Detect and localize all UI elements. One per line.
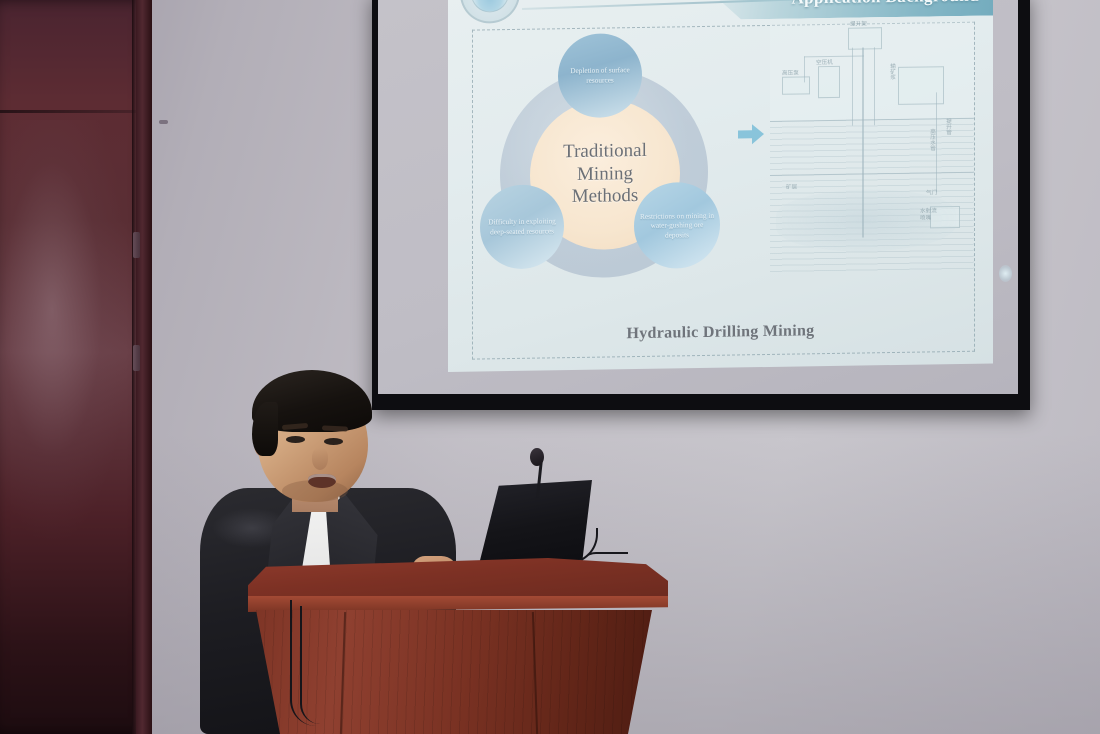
schematic-air-compressor [818, 66, 840, 98]
university-seal-logo [460, 0, 520, 24]
wooden-door[interactable] [0, 0, 150, 734]
core-line-1: Traditional [563, 140, 647, 164]
schematic-drill-string [862, 47, 864, 237]
schematic-callout-line [936, 92, 937, 192]
door-rail [0, 110, 136, 113]
schematic-slurry-tank [898, 66, 944, 105]
schematic-label-pump: 高压泵 [782, 68, 799, 76]
schematic-label-compressor: 空压机 [816, 58, 833, 66]
door-hinge [133, 232, 140, 258]
door-sheen [0, 120, 130, 540]
schematic-pipe-right [874, 47, 875, 125]
hydraulic-drilling-schematic: 提升架 高压泵 空压机 输矿浆 矿层 提升管 高压水管 气门 水射流喷嘴 [770, 22, 974, 275]
schematic-label-nozzle: 水射流喷嘴 [920, 208, 942, 222]
presenter-eye-right [324, 438, 343, 445]
core-line-2: Mining [563, 163, 647, 187]
core-line-3: Methods [563, 185, 647, 209]
presentation-scene: Application Background Traditional Minin… [0, 0, 1100, 734]
presenter-nose [312, 448, 328, 470]
schematic-pipe-left [852, 48, 853, 126]
schematic-label-lifting-pipe: 提升管 [944, 118, 952, 135]
diagram-bubble-bottom-right: Restrictions on mining in water-gushing … [634, 182, 720, 269]
presenter-hair-side [252, 402, 278, 456]
right-arrow-icon [736, 121, 766, 147]
schematic-label-slurry: 输矿浆 [888, 63, 896, 80]
presenter-eye-left [286, 436, 305, 443]
gooseneck-microphone[interactable] [530, 448, 544, 466]
traditional-mining-diagram: Traditional Mining Methods Depletion of … [484, 34, 720, 286]
schematic-label-ore-seam: 矿层 [786, 183, 797, 191]
hanging-cable [300, 606, 320, 724]
podium-top-surface [248, 558, 668, 602]
schematic-hoist-frame [848, 27, 882, 50]
schematic-label-water-pipe: 高压水管 [928, 128, 936, 151]
schematic-feed-drop [804, 56, 805, 82]
schematic-label-air-valve: 气门 [926, 188, 937, 196]
presenter-mouth [308, 474, 336, 488]
door-hinge [133, 345, 140, 371]
diagram-core-label: Traditional Mining Methods [563, 140, 647, 209]
schematic-label-hoist: 提升架 [850, 19, 867, 27]
door-latch[interactable] [159, 120, 168, 124]
screen-glare [999, 265, 1012, 282]
projected-slide: Application Background Traditional Minin… [448, 0, 993, 372]
schematic-high-pressure-pump [782, 76, 810, 94]
